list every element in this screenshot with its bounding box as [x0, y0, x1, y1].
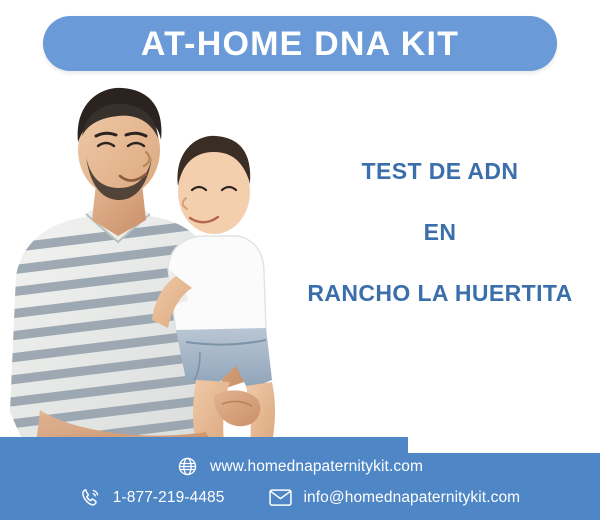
headline-block: TEST DE ADN EN RANCHO LA HUERTITA	[290, 160, 590, 305]
header-title: AT-HOME DNA KIT	[141, 27, 459, 61]
email-contact[interactable]: info@homednapaternitykit.com	[269, 488, 521, 507]
website-contact[interactable]: www.homednapaternitykit.com	[177, 456, 423, 477]
footer-notch-fill	[0, 437, 290, 455]
father-holding-toddler-photo	[0, 80, 320, 445]
footer-contact-row: 1-877-219-4485 info@homednapaternitykit.…	[0, 487, 600, 508]
phone-text: 1-877-219-4485	[113, 489, 225, 507]
phone-contact[interactable]: 1-877-219-4485	[80, 487, 225, 508]
globe-icon	[177, 456, 198, 477]
headline-line-3: RANCHO LA HUERTITA	[290, 282, 590, 305]
email-text: info@homednapaternitykit.com	[304, 489, 521, 507]
header-banner: AT-HOME DNA KIT	[43, 16, 557, 71]
headline-line-2: EN	[290, 221, 590, 244]
promo-card: AT-HOME DNA KIT	[0, 0, 600, 520]
phone-icon	[80, 487, 101, 508]
headline-line-1: TEST DE ADN	[290, 160, 590, 183]
footer-website-row: www.homednapaternitykit.com	[0, 456, 600, 477]
website-text: www.homednapaternitykit.com	[210, 458, 423, 476]
envelope-icon	[269, 488, 292, 507]
